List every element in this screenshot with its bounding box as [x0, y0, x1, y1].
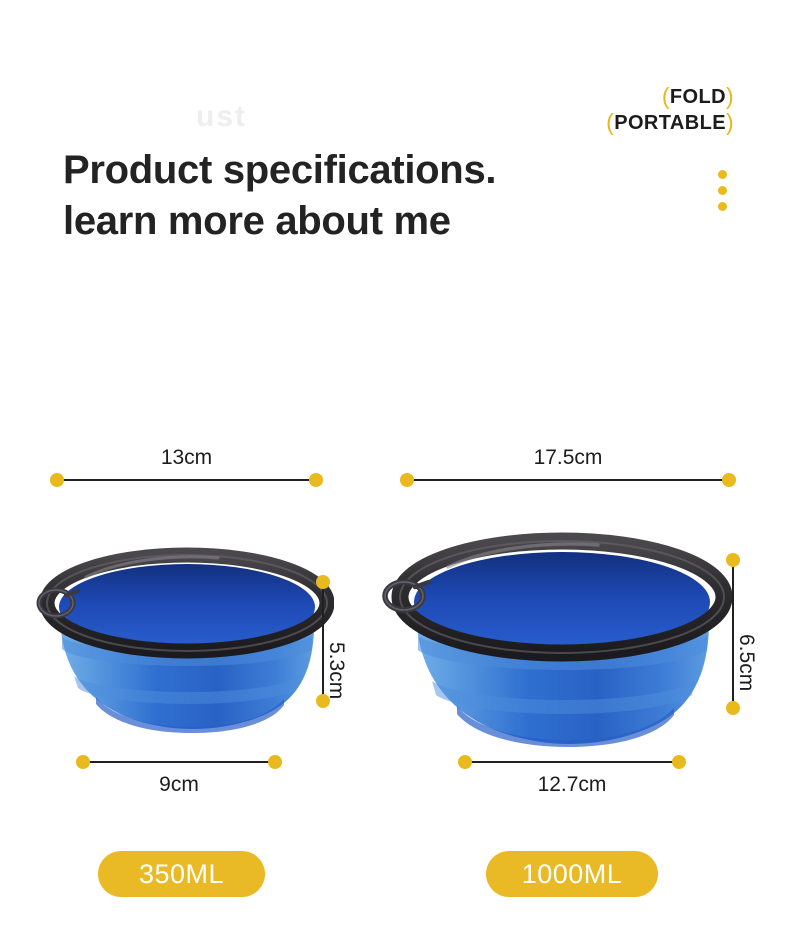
dimension-small-height: 5.3cm — [316, 580, 330, 703]
dimension-small-top-width: 13cm — [55, 473, 318, 487]
feature-tag-portable: (PORTABLE) — [606, 110, 734, 136]
dimension-endpoint-dot — [50, 473, 64, 487]
dimension-line — [81, 761, 277, 763]
background-watermark: ust — [196, 100, 366, 144]
product-image-small-bowl — [22, 545, 334, 735]
dimension-label: 12.7cm — [463, 773, 681, 797]
dimension-label: 9cm — [81, 773, 277, 797]
volume-badge-label: 1000ML — [522, 859, 623, 890]
dimension-endpoint-dot — [76, 755, 90, 769]
dimension-endpoint-dot — [316, 575, 330, 589]
feature-tags: (FOLD) (PORTABLE) — [606, 84, 734, 136]
dot-icon — [718, 186, 727, 195]
dimension-line — [463, 761, 681, 763]
dimension-endpoint-dot — [400, 473, 414, 487]
dimension-line — [55, 479, 318, 481]
dot-icon — [718, 202, 727, 211]
dimension-label: 6.5cm — [734, 634, 758, 691]
dimension-label: 17.5cm — [405, 446, 731, 470]
dimension-large-top-width: 17.5cm — [405, 473, 731, 487]
dimension-large-height: 6.5cm — [726, 558, 740, 710]
paren-open-icon: ( — [662, 83, 670, 109]
volume-badge-350ml: 350ML — [98, 851, 265, 897]
decorative-dot-stack — [718, 170, 727, 211]
volume-badge-label: 350ML — [139, 859, 224, 890]
dimension-endpoint-dot — [726, 701, 740, 715]
dimension-label: 13cm — [55, 446, 318, 470]
dimension-endpoint-dot — [458, 755, 472, 769]
dimension-line — [405, 479, 731, 481]
volume-badge-1000ml: 1000ML — [486, 851, 658, 897]
paren-open-icon: ( — [606, 109, 614, 135]
product-image-large-bowl — [372, 530, 732, 752]
paren-close-icon: ) — [726, 109, 734, 135]
feature-tag-portable-label: PORTABLE — [614, 112, 726, 134]
paren-close-icon: ) — [726, 83, 734, 109]
dot-icon — [718, 170, 727, 179]
dimension-endpoint-dot — [726, 553, 740, 567]
dimension-endpoint-dot — [309, 473, 323, 487]
dimension-endpoint-dot — [268, 755, 282, 769]
feature-tag-fold-label: FOLD — [670, 86, 726, 108]
dimension-large-base-width: 12.7cm — [463, 755, 681, 769]
page-title: Product specifications. learn more about… — [63, 145, 593, 247]
dimension-label: 5.3cm — [324, 642, 348, 699]
feature-tag-fold: (FOLD) — [606, 84, 734, 110]
dimension-small-base-width: 9cm — [81, 755, 277, 769]
dimension-endpoint-dot — [722, 473, 736, 487]
specification-stage: 13cm — [0, 430, 790, 830]
dimension-endpoint-dot — [672, 755, 686, 769]
